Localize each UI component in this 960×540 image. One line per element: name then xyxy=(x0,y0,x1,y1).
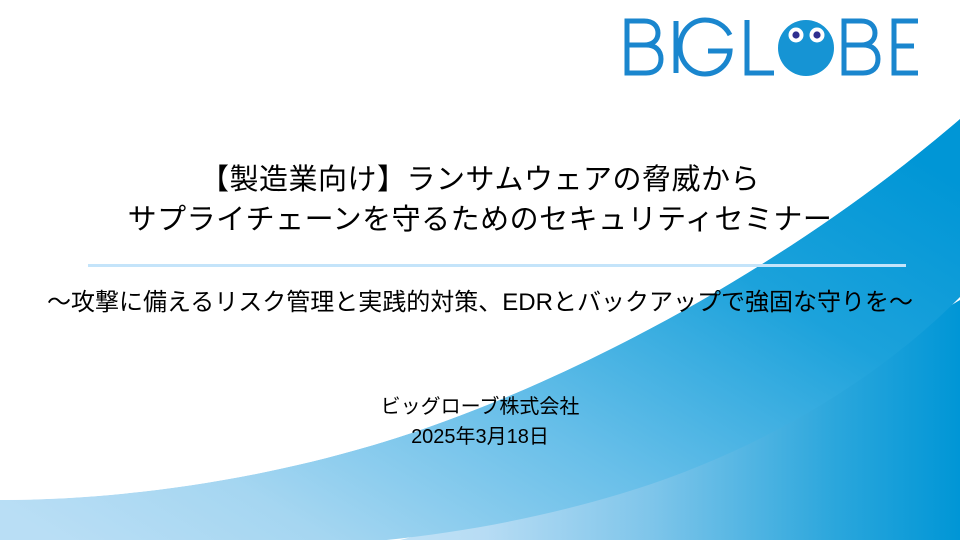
page-title: 【製造業向け】ランサムウェアの脅威から サプライチェーンを守るためのセキュリティ… xyxy=(0,160,960,240)
logo-globe-pupil-left xyxy=(792,31,799,38)
footer-block: ビッグローブ株式会社 2025年3月18日 xyxy=(0,392,960,452)
title-line-2: サプライチェーンを守るためのセキュリティセミナー xyxy=(0,200,960,240)
logo-letter-l xyxy=(747,20,774,73)
logo-letter-b2 xyxy=(844,21,875,45)
logo-globe-pupil-right xyxy=(813,31,820,38)
title-line-1: 【製造業向け】ランサムウェアの脅威から xyxy=(0,160,960,200)
logo-letter-e xyxy=(894,21,918,73)
subtitle: 〜攻撃に備えるリスク管理と実践的対策、EDRとバックアップで強固な守りを〜 xyxy=(0,286,960,320)
logo-letter-b1-lower xyxy=(627,45,661,73)
title-divider xyxy=(88,264,906,267)
logo-letter-g xyxy=(680,20,730,74)
slide-canvas: 【製造業向け】ランサムウェアの脅威から サプライチェーンを守るためのセキュリティ… xyxy=(0,0,960,540)
biglobe-logo-mark xyxy=(622,17,922,79)
biglobe-logo xyxy=(622,12,922,84)
footer-company: ビッグローブ株式会社 xyxy=(0,392,960,422)
logo-letter-b1 xyxy=(627,21,658,45)
logo-globe-mascot xyxy=(778,20,834,76)
logo-letter-b2-lower xyxy=(844,45,878,73)
footer-date: 2025年3月18日 xyxy=(0,422,960,452)
